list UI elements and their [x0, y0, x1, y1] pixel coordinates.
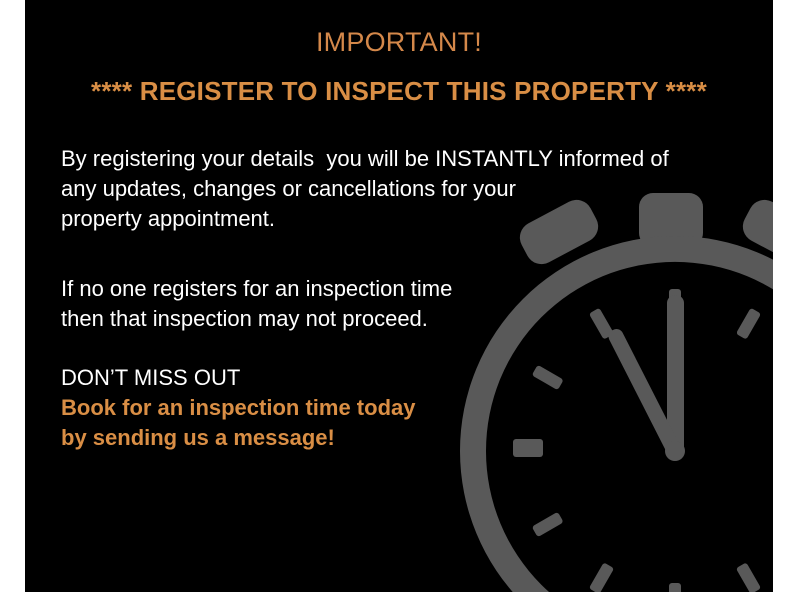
poster-panel: IMPORTANT! **** REGISTER TO INSPECT THIS…: [25, 0, 773, 592]
headline-register: **** REGISTER TO INSPECT THIS PROPERTY *…: [25, 76, 773, 107]
paragraph-line: By registering your details you will be …: [61, 144, 741, 174]
headline-important: IMPORTANT!: [25, 27, 773, 58]
paragraph-registering-benefit: By registering your details you will be …: [61, 144, 741, 234]
cta-message-line: by sending us a message!: [61, 423, 741, 453]
paragraph-line: If no one registers for an inspection ti…: [61, 274, 741, 304]
cta-dont-miss-out: DON’T MISS OUT: [61, 363, 741, 393]
paragraph-line: property appointment.: [61, 204, 741, 234]
poster-content: IMPORTANT! **** REGISTER TO INSPECT THIS…: [25, 0, 773, 592]
paragraph-no-registration-warning: If no one registers for an inspection ti…: [61, 274, 741, 334]
call-to-action-block: DON’T MISS OUT Book for an inspection ti…: [61, 363, 741, 453]
cta-book-line: Book for an inspection time today: [61, 393, 741, 423]
paragraph-line: any updates, changes or cancellations fo…: [61, 174, 741, 204]
paragraph-line: then that inspection may not proceed.: [61, 304, 741, 334]
slide-canvas: IMPORTANT! **** REGISTER TO INSPECT THIS…: [0, 0, 800, 600]
